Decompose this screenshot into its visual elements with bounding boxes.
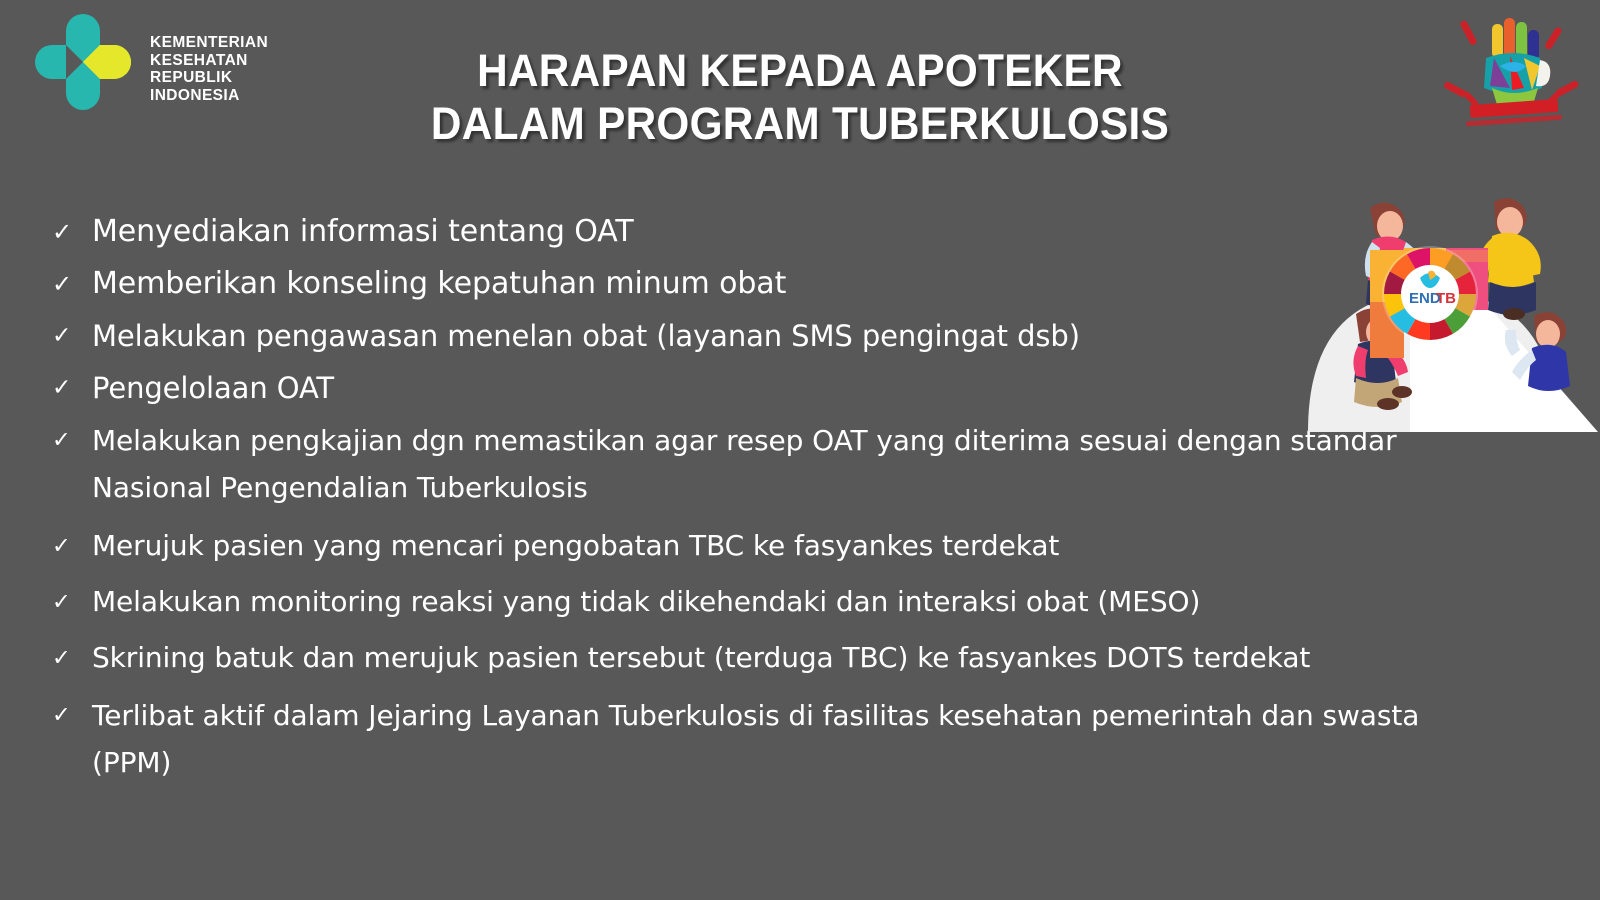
list-item-label: Skrining batuk dan merujuk pasien terseb… — [92, 632, 1438, 684]
end-tb-teamwork-illustration: END TB — [1262, 142, 1600, 432]
kemenkes-logo-mark — [30, 14, 138, 110]
list-item: ✓ Melakukan monitoring reaksi yang tidak… — [48, 576, 1438, 628]
list-item-label: Melakukan pengkajian dgn memastikan agar… — [92, 417, 1438, 511]
slide-canvas: KEMENTERIAN KESEHATAN REPUBLIK INDONESIA… — [0, 0, 1600, 900]
list-item-label: Melakukan monitoring reaksi yang tidak d… — [92, 576, 1438, 628]
list-item: ✓ Skrining batuk dan merujuk pasien ters… — [48, 632, 1438, 684]
checkmark-icon: ✓ — [48, 692, 92, 739]
kemenkes-wordmark: KEMENTERIAN KESEHATAN REPUBLIK INDONESIA — [150, 34, 268, 104]
list-item: ✓ Memberikan konseling kepatuhan minum o… — [48, 258, 1438, 310]
kemenkes-logo: KEMENTERIAN KESEHATAN REPUBLIK INDONESIA — [30, 12, 250, 112]
checkmark-icon: ✓ — [48, 310, 92, 362]
list-item: ✓ Melakukan pengawasan menelan obat (lay… — [48, 310, 1438, 362]
list-item-label: Terlibat aktif dalam Jejaring Layanan Tu… — [92, 692, 1438, 786]
checkmark-icon: ✓ — [48, 632, 92, 684]
checkmark-icon: ✓ — [48, 258, 92, 310]
checkmark-icon: ✓ — [48, 417, 92, 464]
list-item-label: Memberikan konseling kepatuhan minum oba… — [92, 258, 1438, 310]
list-item-label: Menyediakan informasi tentang OAT — [92, 206, 1438, 258]
bullet-list: ✓ Menyediakan informasi tentang OAT ✓ Me… — [48, 206, 1438, 786]
list-item: ✓ Melakukan pengkajian dgn memastikan ag… — [48, 417, 1438, 511]
wheel-label-tb: TB — [1436, 290, 1456, 307]
page-title: HARAPAN KEPADA APOTEKER DALAM PROGRAM TU… — [330, 44, 1270, 150]
list-item: ✓ Menyediakan informasi tentang OAT — [48, 206, 1438, 258]
checkmark-icon: ✓ — [48, 362, 92, 414]
checkmark-icon: ✓ — [48, 576, 92, 628]
stop-tb-logo — [1438, 6, 1588, 134]
list-item-label: Pengelolaan OAT — [92, 362, 1438, 414]
list-item: ✓ Pengelolaan OAT — [48, 362, 1438, 414]
list-item: ✓ Terlibat aktif dalam Jejaring Layanan … — [48, 692, 1438, 786]
checkmark-icon: ✓ — [48, 520, 92, 572]
list-item-label: Melakukan pengawasan menelan obat (layan… — [92, 310, 1438, 362]
list-item: ✓ Merujuk pasien yang mencari pengobatan… — [48, 520, 1438, 572]
list-item-label: Merujuk pasien yang mencari pengobatan T… — [92, 520, 1438, 572]
sdg-wheel: END TB — [1382, 246, 1478, 342]
checkmark-icon: ✓ — [48, 206, 92, 258]
